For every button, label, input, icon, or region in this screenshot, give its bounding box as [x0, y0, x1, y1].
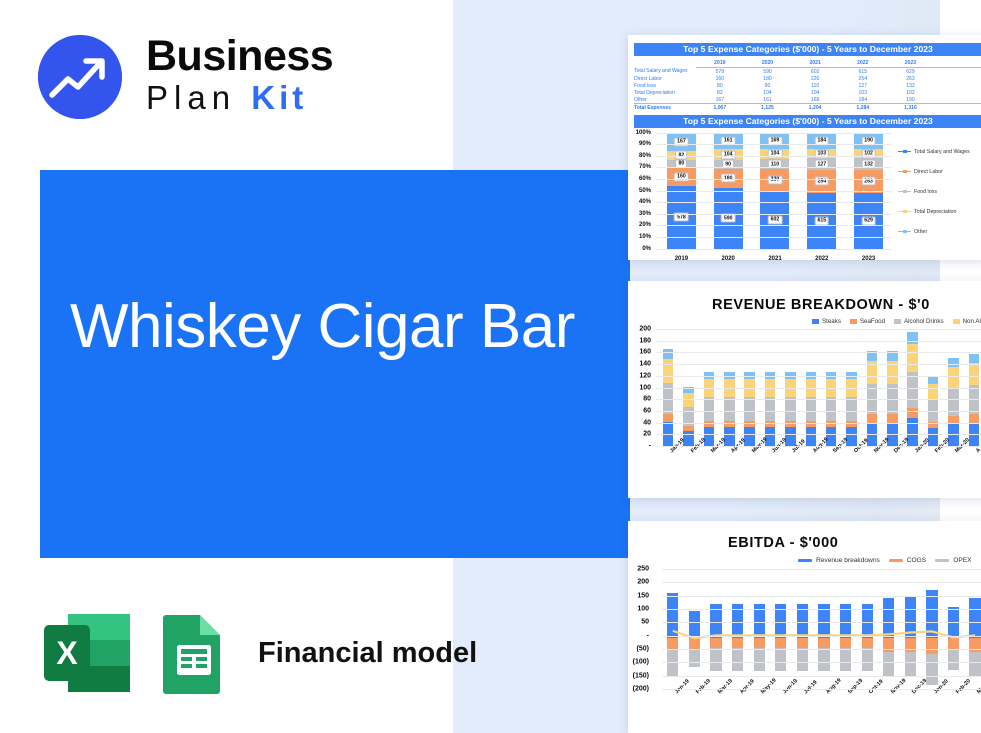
bar-segment — [907, 408, 918, 418]
axis-tick-label: - — [647, 632, 649, 639]
gridline — [656, 214, 892, 215]
bar-segment: 104 — [760, 149, 789, 159]
bar-segment — [775, 648, 786, 671]
bar-segment — [806, 397, 817, 420]
bar-segment — [907, 332, 918, 344]
axis-tick-label: 160 — [639, 349, 651, 356]
legend-swatch — [953, 319, 960, 324]
axis-tick-label: 100% — [636, 130, 651, 136]
legend-item: COGS — [889, 557, 926, 564]
bar-group — [835, 569, 857, 689]
axis-tick-label: 2021 — [752, 256, 799, 261]
legend-item: Non Alcohol Drinks — [953, 318, 981, 325]
gridline — [656, 144, 892, 145]
legend-label: Direct Labor — [914, 169, 943, 175]
axis-tick-label: 60 — [643, 407, 651, 414]
bar-segment — [948, 358, 959, 367]
bar-segment — [926, 654, 937, 685]
card-ebitda[interactable]: EBITDA - $'000 Revenue breakdownsCOGSOPE… — [628, 521, 981, 733]
bar-segment — [744, 427, 755, 446]
bar-value-label: 160 — [674, 172, 689, 181]
bar-segment — [710, 638, 721, 649]
bar-segment — [905, 596, 916, 638]
legend-item: Direct Labor — [898, 169, 981, 175]
legend-label: Other — [914, 229, 927, 235]
bar-segment: 103 — [807, 149, 836, 158]
expenses-legend: Total Salary and WagesDirect LaborFood l… — [898, 149, 981, 249]
bar-segment: 167 — [667, 133, 696, 151]
gridline — [662, 622, 981, 623]
badge-label-financial-model: Financial model — [258, 637, 477, 670]
table-row-total: Total Expenses1,0671,1251,2041,2841,316 — [634, 104, 981, 112]
axis-tick-label: 140 — [639, 361, 651, 368]
gridline — [656, 249, 892, 250]
bar-group — [943, 569, 965, 689]
bar-segment: 184 — [807, 133, 836, 150]
gridline — [662, 676, 981, 677]
bar-segment — [887, 414, 898, 422]
legend-swatch — [889, 559, 903, 563]
bar-segment — [797, 638, 808, 649]
gridline — [662, 649, 981, 650]
axis-tick-label: A — [975, 447, 981, 454]
expenses-col-header: 2023 — [887, 59, 935, 68]
bar-segment: 590 — [714, 188, 743, 249]
bar-segment: 102 — [854, 149, 883, 158]
axis-tick-label: (100) — [633, 659, 649, 666]
legend-item: Other — [898, 229, 981, 235]
expenses-x-axis: 20192020202120222023 — [658, 256, 892, 261]
revenue-y-axis: 20018016014012010080604020- — [628, 327, 654, 482]
gridline — [662, 636, 981, 637]
expenses-col-header: 2019 — [696, 59, 744, 68]
bar-value-label: 602 — [768, 215, 783, 224]
bar-segment — [765, 397, 776, 420]
logo-text-business: Business — [146, 33, 333, 79]
gridline — [656, 167, 892, 168]
bar-segment — [785, 427, 796, 446]
gridline — [656, 352, 981, 353]
legend-swatch — [798, 559, 812, 563]
bar-value-label: 220 — [768, 175, 783, 184]
gridline — [656, 411, 981, 412]
table-row: Other167161169184190 — [634, 96, 981, 104]
logo-text-kit: Kit — [251, 79, 307, 116]
axis-tick-label: 2020 — [705, 256, 752, 261]
bar-group — [921, 569, 943, 689]
gridline — [656, 364, 981, 365]
gridline — [656, 202, 892, 203]
brand-logo: Business Plan Kit — [38, 33, 338, 121]
format-badges: X Financial model — [38, 612, 477, 694]
card-expense-categories[interactable]: Top 5 Expense Categories ($'000) - 5 Yea… — [628, 35, 981, 260]
table-row: Total Depreciation82104104103102 — [634, 89, 981, 96]
gridline — [656, 156, 892, 157]
axis-tick-label: 50 — [641, 619, 649, 626]
bar-segment — [667, 593, 678, 637]
bar-segment — [862, 638, 873, 649]
bar-segment: 578 — [667, 186, 696, 249]
legend-swatch — [898, 171, 911, 172]
legend-label: COGS — [907, 557, 926, 564]
bar-segment — [797, 648, 808, 671]
expenses-col-header: 2020 — [744, 59, 792, 68]
revenue-x-axis: Jan-19Feb-19Mar-19Apr-19May-19Jun-19Jul-… — [658, 448, 981, 476]
bar-value-label: 104 — [768, 149, 783, 158]
axis-tick-label: 150 — [637, 592, 649, 599]
gridline — [656, 329, 981, 330]
expenses-table-header: Top 5 Expense Categories ($'000) - 5 Yea… — [634, 43, 981, 56]
bar-segment: 160 — [667, 168, 696, 185]
gridline — [662, 596, 981, 597]
legend-swatch — [898, 151, 911, 152]
axis-tick-label: 50% — [639, 188, 651, 194]
legend-swatch — [894, 319, 901, 324]
legend-item: Revenue breakdowns — [798, 557, 880, 564]
table-row: Food loss8090110127132 — [634, 82, 981, 89]
bar-segment: 220 — [760, 169, 789, 190]
axis-tick-label: 200 — [637, 579, 649, 586]
axis-tick-label: 10% — [639, 234, 651, 240]
bar-segment — [926, 638, 937, 655]
bar-segment: 190 — [854, 133, 883, 150]
table-row: Direct Labor160180220254263 — [634, 75, 981, 82]
legend-swatch — [935, 559, 949, 563]
axis-tick-label: 20% — [639, 222, 651, 228]
bar-segment — [907, 344, 918, 372]
bar-segment — [883, 652, 894, 677]
legend-label: Total Depreciation — [914, 209, 956, 215]
gridline — [656, 341, 981, 342]
axis-tick-label: 30% — [639, 211, 651, 217]
axis-tick-label: 0% — [642, 246, 651, 252]
axis-tick-label: 20 — [643, 431, 651, 438]
bar-group — [964, 569, 981, 689]
bar-segment — [663, 359, 674, 382]
bar-segment — [826, 397, 837, 420]
ebitda-stacked-chart[interactable]: 25020015010050-(50)(100)(150)(200) Jan-1… — [628, 567, 981, 719]
axis-tick-label: 250 — [637, 566, 649, 573]
bar-group — [770, 569, 792, 689]
bar-value-label: 103 — [814, 149, 829, 158]
legend-item: Total Depreciation — [898, 209, 981, 215]
gridline — [662, 569, 981, 570]
bar-segment — [883, 598, 894, 638]
gridline — [656, 423, 981, 424]
bar-group — [900, 569, 922, 689]
bar-segment — [818, 648, 829, 671]
bar-segment — [969, 598, 980, 638]
axis-tick-label: 80 — [643, 396, 651, 403]
bar-value-label: 102 — [861, 149, 876, 158]
bar-segment — [765, 427, 776, 446]
bar-segment: 169 — [760, 133, 789, 149]
legend-item: Steaks — [812, 318, 841, 325]
bar-segment — [969, 354, 980, 363]
legend-label: Food loss — [914, 189, 937, 195]
bar-segment — [846, 397, 857, 420]
axis-tick-label: 2023 — [845, 256, 892, 261]
bar-segment — [948, 367, 959, 389]
legend-label: Alcohol Drinks — [904, 318, 944, 325]
legend-swatch — [850, 319, 857, 324]
bar-segment — [840, 648, 851, 671]
gridline — [662, 582, 981, 583]
bar-segment — [948, 649, 959, 670]
bar-segment — [724, 427, 735, 446]
bar-segment — [926, 590, 937, 637]
bar-segment — [969, 414, 980, 422]
axis-tick-label: (150) — [633, 672, 649, 679]
card-revenue-breakdown[interactable]: REVENUE BREAKDOWN - $'0 SteaksSeaFoodAlc… — [628, 281, 981, 498]
axis-tick-label: (50) — [637, 646, 649, 653]
bar-segment — [928, 428, 939, 446]
axis-tick-label: 200 — [639, 326, 651, 333]
legend-swatch — [812, 319, 819, 324]
bar-segment — [969, 363, 980, 385]
bar-segment: 254 — [807, 170, 836, 193]
gridline — [656, 399, 981, 400]
legend-label: SeaFood — [860, 318, 885, 325]
bar-segment — [689, 611, 700, 638]
axis-tick-label: 2022 — [798, 256, 845, 261]
legend-label: Total Salary and Wages — [914, 149, 970, 155]
axis-tick-label: 70% — [639, 164, 651, 170]
expenses-table: 20192020202120222023 Total Salary and Wa… — [628, 56, 981, 113]
gridline — [656, 446, 981, 447]
bar-value-label: 104 — [721, 150, 736, 159]
gridline — [656, 376, 981, 377]
revenue-chart-title: REVENUE BREAKDOWN - $'0 — [712, 297, 981, 313]
legend-item: SeaFood — [850, 318, 885, 325]
gridline — [656, 388, 981, 389]
legend-item: Total Salary and Wages — [898, 149, 981, 155]
expenses-col-header: 2021 — [791, 59, 839, 68]
bar-segment — [689, 638, 700, 649]
bar-segment — [689, 649, 700, 667]
axis-tick-label: - — [649, 443, 651, 450]
axis-tick-label: 100 — [637, 606, 649, 613]
bar-group — [813, 569, 835, 689]
bar-segment: 104 — [714, 149, 743, 160]
bar-segment — [710, 648, 721, 671]
legend-label: OPEX — [953, 557, 971, 564]
bar-segment — [806, 427, 817, 446]
bar-segment — [907, 372, 918, 408]
gridline — [662, 662, 981, 663]
hero-blue-box — [40, 170, 630, 558]
gridline — [656, 179, 892, 180]
bar-segment — [754, 638, 765, 649]
bar-group — [684, 569, 706, 689]
gridline — [656, 225, 892, 226]
axis-tick-label: 90% — [639, 141, 651, 147]
ebitda-bars — [662, 569, 981, 689]
axis-tick-label: 40% — [639, 199, 651, 205]
bar-segment — [826, 427, 837, 446]
legend-swatch — [898, 231, 911, 232]
expenses-y-axis: 100%90%80%70%60%50%40%30%20%10%0% — [628, 131, 654, 261]
bar-segment — [948, 638, 959, 649]
gridline — [662, 689, 981, 690]
bar-group — [748, 569, 770, 689]
legend-label: Non Alcohol Drinks — [963, 318, 981, 325]
bar-segment — [818, 638, 829, 649]
google-sheets-icon — [158, 612, 230, 694]
bar-segment — [754, 648, 765, 671]
ebitda-x-axis: Jan-19Feb-19Mar-19Apr-19May-19Jun-19Jul-… — [662, 689, 981, 715]
axis-tick-label: 2019 — [658, 256, 705, 261]
logo-text-plan-kit: Plan Kit — [146, 79, 333, 117]
axis-tick-label: 120 — [639, 372, 651, 379]
bar-segment — [969, 652, 980, 677]
bar-segment — [928, 377, 939, 384]
axis-tick-label: 40 — [643, 419, 651, 426]
bar-segment — [905, 652, 916, 677]
bar-value-label: 629 — [861, 216, 876, 225]
ebitda-chart-title: EBITDA - $'000 — [728, 535, 981, 551]
svg-text:X: X — [56, 635, 78, 671]
axis-tick-label: 60% — [639, 176, 651, 182]
bar-segment — [867, 414, 878, 422]
bar-segment — [948, 389, 959, 416]
bar-segment — [704, 397, 715, 420]
bar-segment — [840, 638, 851, 649]
revenue-legend: SteaksSeaFoodAlcohol DrinksNon Alcohol D… — [812, 318, 981, 325]
revenue-stacked-chart[interactable]: 20018016014012010080604020- Jan-19Feb-19… — [628, 327, 981, 482]
gridline — [656, 237, 892, 238]
legend-item: OPEX — [935, 557, 971, 564]
axis-tick-label: 100 — [639, 384, 651, 391]
logo-text-plan: Plan — [146, 79, 236, 116]
axis-tick-label: (200) — [633, 686, 649, 693]
legend-swatch — [898, 211, 911, 212]
bar-value-label: 590 — [721, 214, 736, 223]
bar-value-label: 615 — [814, 216, 829, 225]
bar-segment: 161 — [714, 133, 743, 150]
bar-group — [856, 569, 878, 689]
legend-label: Revenue breakdowns — [816, 557, 880, 564]
expenses-chart-header: Top 5 Expense Categories ($'000) - 5 Yea… — [634, 115, 981, 128]
gridline — [656, 191, 892, 192]
logo-growth-arrow-icon — [38, 35, 122, 119]
bar-segment — [785, 397, 796, 420]
bar-segment — [732, 638, 743, 649]
bar-segment — [724, 397, 735, 420]
bar-group — [878, 569, 900, 689]
bar-segment — [862, 648, 873, 671]
ebitda-y-axis: 25020015010050-(50)(100)(150)(200) — [628, 567, 654, 719]
bar-segment — [846, 427, 857, 446]
page-title: Whiskey Cigar Bar — [70, 290, 610, 364]
bar-group — [662, 569, 684, 689]
bar-segment — [775, 638, 786, 649]
bar-group — [792, 569, 814, 689]
bar-group — [727, 569, 749, 689]
gridline — [662, 609, 981, 610]
bar-group — [705, 569, 727, 689]
expenses-col-header: 2022 — [839, 59, 887, 68]
gridline — [656, 434, 981, 435]
legend-item: Alcohol Drinks — [894, 318, 944, 325]
bar-segment — [663, 414, 674, 422]
gridline — [656, 133, 892, 134]
bar-segment — [663, 349, 674, 360]
axis-tick-label: 80% — [639, 153, 651, 159]
bar-segment — [928, 384, 939, 400]
bar-segment — [732, 648, 743, 671]
ebitda-legend: Revenue breakdownsCOGSOPEX — [798, 557, 981, 564]
legend-swatch — [898, 191, 911, 192]
legend-item: Food loss — [898, 189, 981, 195]
expenses-stacked-chart[interactable]: 100%90%80%70%60%50%40%30%20%10%0% 167828… — [628, 131, 981, 261]
bar-segment — [667, 650, 678, 677]
axis-tick-label: 180 — [639, 337, 651, 344]
table-row: Total Salary and Wages578590602615629 — [634, 68, 981, 76]
bar-segment: 602 — [760, 191, 789, 249]
bar-segment — [744, 397, 755, 420]
legend-label: Steaks — [822, 318, 841, 325]
excel-icon: X — [38, 612, 136, 694]
